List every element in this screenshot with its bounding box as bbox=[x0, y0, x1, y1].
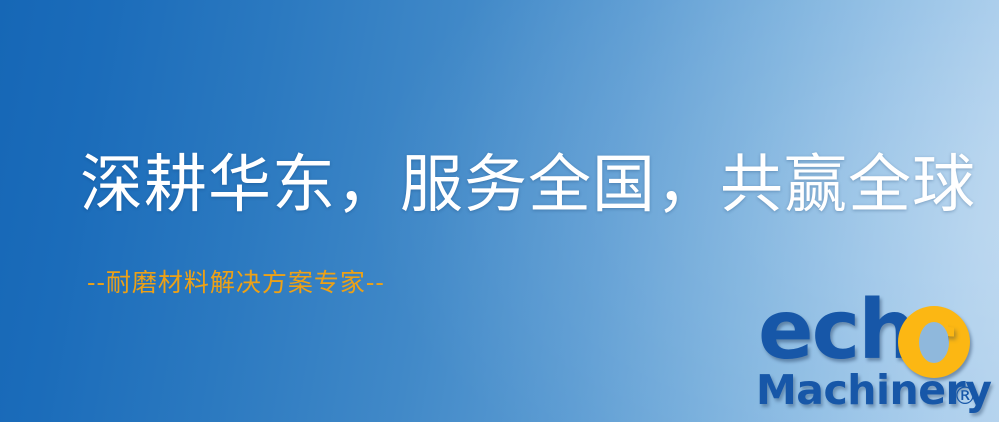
logo-text-ech: ech bbox=[758, 290, 915, 372]
company-logo[interactable]: ech Machinery ® bbox=[740, 292, 999, 422]
banner-subtitle: --耐磨材料解决方案专家-- bbox=[87, 268, 385, 298]
registered-trademark-symbol: ® bbox=[953, 384, 977, 408]
logo-o-counter bbox=[919, 322, 949, 363]
promo-banner: 深耕华东，服务全国，共赢全球 --耐磨材料解决方案专家-- ech Machin… bbox=[0, 0, 999, 422]
banner-headline: 深耕华东，服务全国，共赢全球 bbox=[80, 152, 976, 218]
echo-signal-arcs-icon bbox=[948, 286, 999, 350]
